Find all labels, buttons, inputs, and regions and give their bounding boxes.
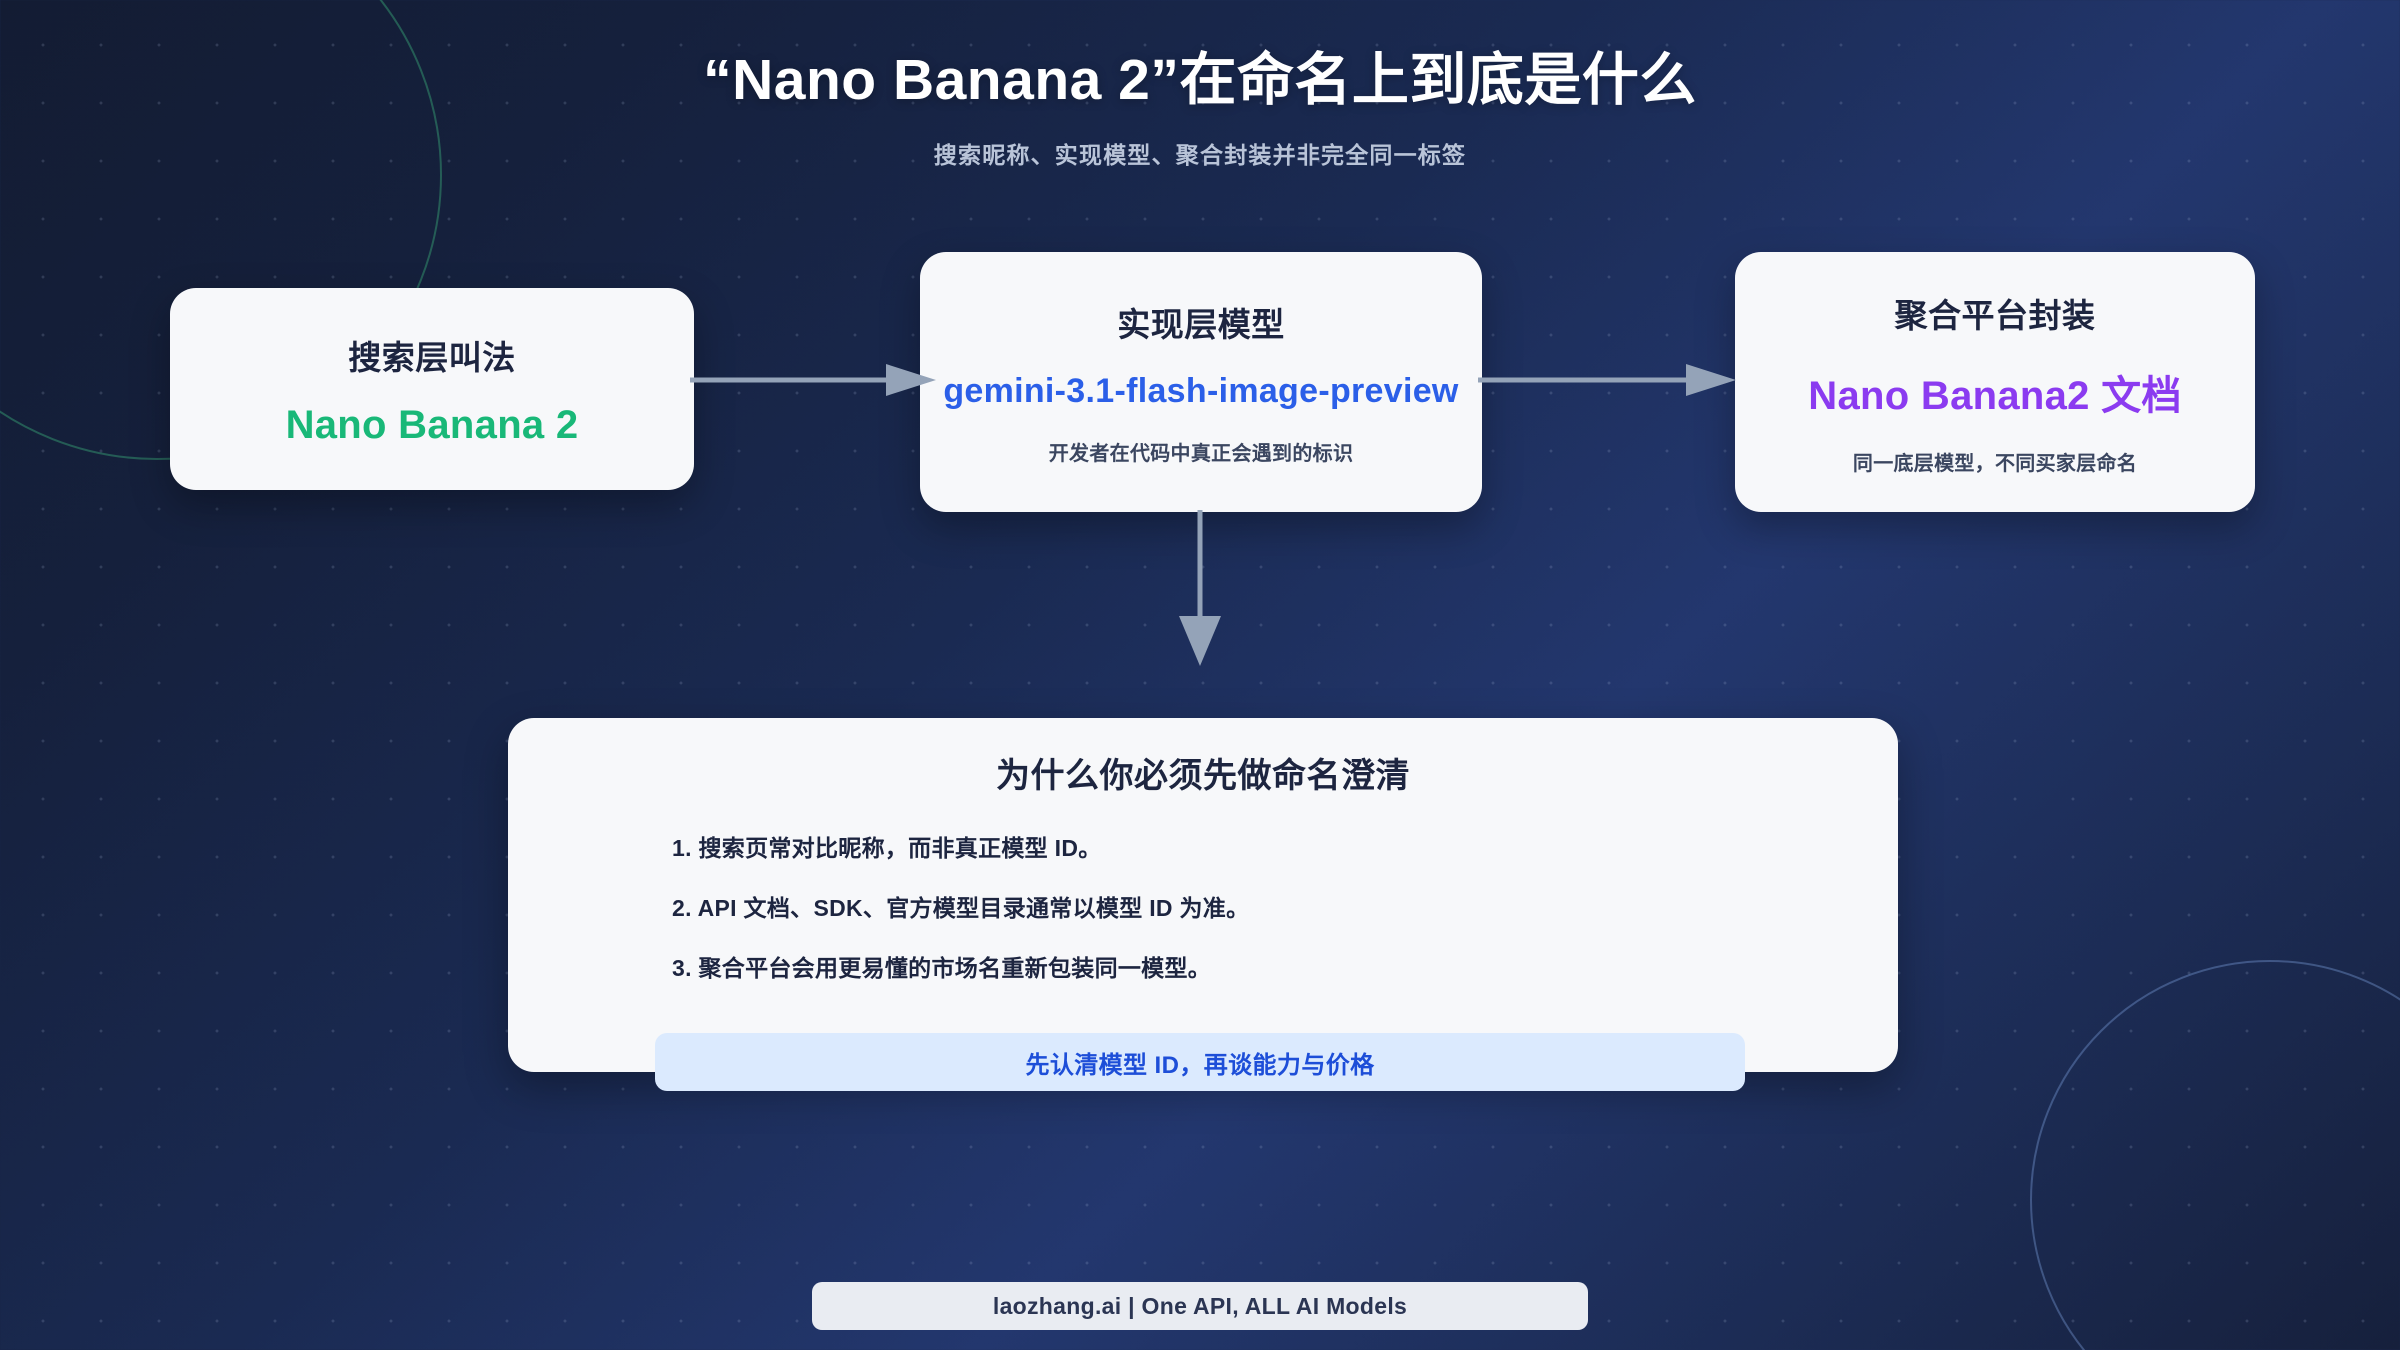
card-implementation-layer: 实现层模型 gemini-3.1-flash-image-preview 开发者… <box>920 252 1482 512</box>
arrow-down-implementation-to-panel-icon <box>1175 510 1225 670</box>
card-implementation-layer-model-id: gemini-3.1-flash-image-preview <box>943 372 1458 411</box>
card-aggregator-layer-note: 同一底层模型，不同买家层命名 <box>1853 447 2137 476</box>
arrow-right-search-to-implementation-icon <box>690 360 940 400</box>
decorative-circle-blue-icon <box>2030 960 2400 1350</box>
card-search-layer-highlight: Nano Banana 2 <box>286 403 579 448</box>
page-title: “Nano Banana 2”在命名上到底是什么 <box>0 48 2400 114</box>
dot-grid-background <box>0 0 2400 1350</box>
card-implementation-layer-title: 实现层模型 <box>1117 298 1285 346</box>
list-item: 1. 搜索页常对比昵称，而非真正模型 ID。 <box>672 829 1854 863</box>
card-search-layer-title: 搜索层叫法 <box>348 331 516 379</box>
card-search-layer: 搜索层叫法 Nano Banana 2 <box>170 288 694 490</box>
footer-brand-bar: laozhang.ai | One API, ALL AI Models <box>812 1282 1588 1330</box>
panel-naming-clarification: 为什么你必须先做命名澄清 1. 搜索页常对比昵称，而非真正模型 ID。 2. A… <box>508 718 1898 1072</box>
card-aggregator-layer-highlight: Nano Banana2 文档 <box>1808 363 2181 421</box>
page-subtitle: 搜索昵称、实现模型、聚合封装并非完全同一标签 <box>0 136 2400 170</box>
list-item: 3. 聚合平台会用更易懂的市场名重新包装同一模型。 <box>672 949 1854 983</box>
card-aggregator-layer: 聚合平台封装 Nano Banana2 文档 同一底层模型，不同买家层命名 <box>1735 252 2255 512</box>
card-implementation-layer-note: 开发者在代码中真正会遇到的标识 <box>1049 437 1354 466</box>
arrow-right-implementation-to-aggregator-icon <box>1478 360 1740 400</box>
panel-title: 为什么你必须先做命名澄清 <box>552 748 1854 797</box>
list-item: 2. API 文档、SDK、官方模型目录通常以模型 ID 为准。 <box>672 889 1854 923</box>
header: “Nano Banana 2”在命名上到底是什么 搜索昵称、实现模型、聚合封装并… <box>0 48 2400 170</box>
panel-callout-badge: 先认清模型 ID，再谈能力与价格 <box>655 1033 1745 1091</box>
card-aggregator-layer-title: 聚合平台封装 <box>1895 289 2096 337</box>
